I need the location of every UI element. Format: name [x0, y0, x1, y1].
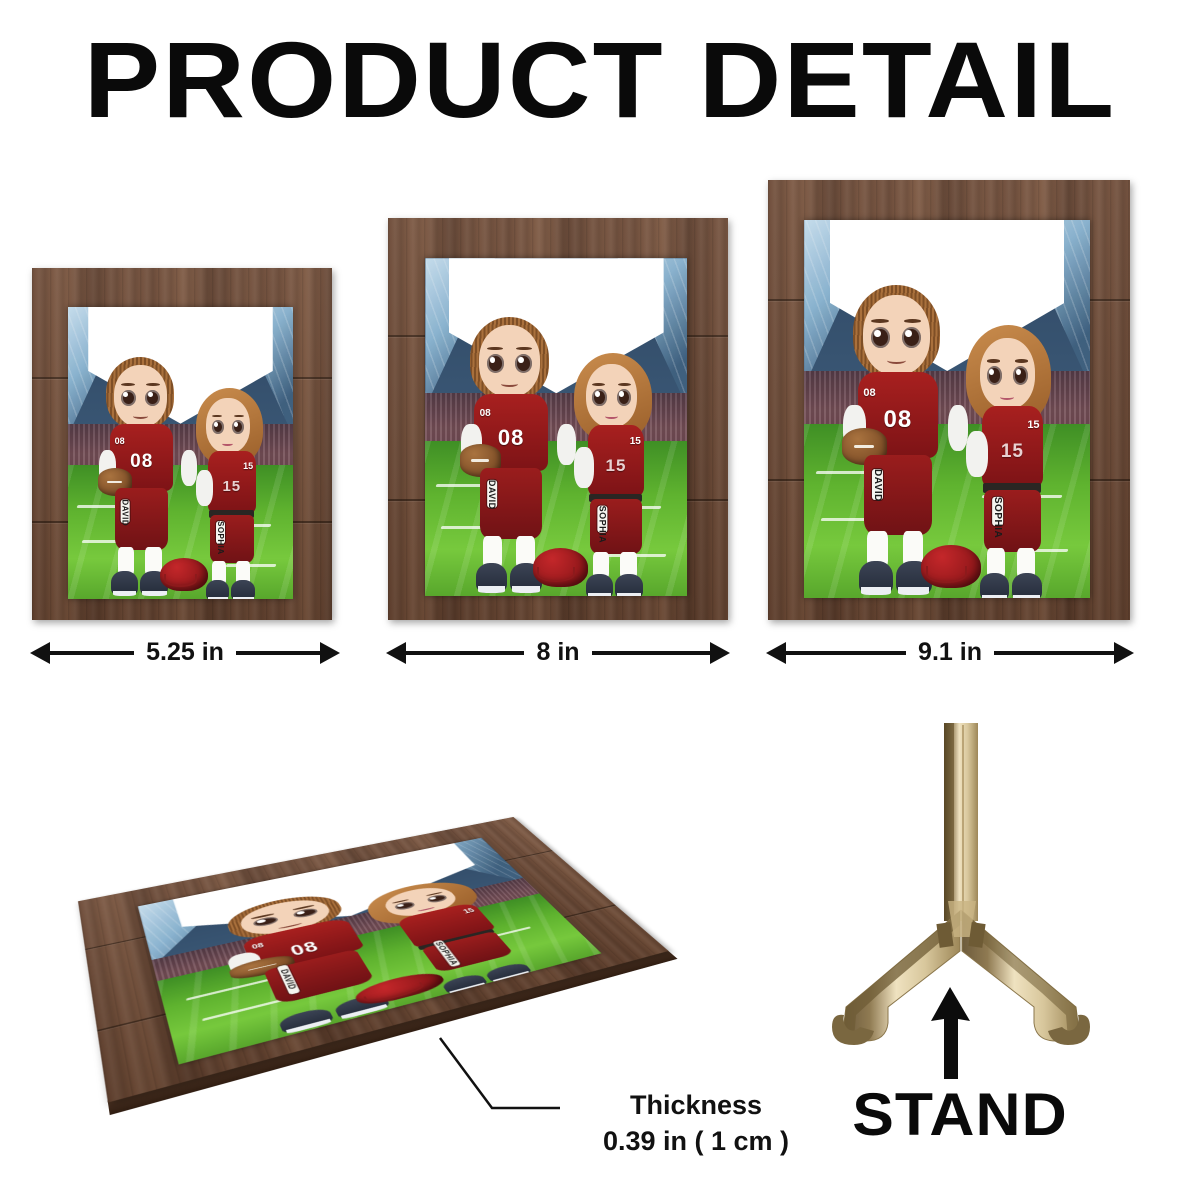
name-tag-sophia: SOPHIA [216, 521, 225, 544]
name-tag-david: DAVID [121, 499, 130, 523]
arrow-right-icon [1114, 642, 1134, 664]
product-frame-large: 08 08 DAVID [768, 180, 1130, 620]
arrow-left-icon [386, 642, 406, 664]
stand-label: STAND [783, 1080, 1137, 1149]
dimension-large: 9.1 in [766, 638, 1134, 667]
character-group-medium: 08 08 DAVID [425, 299, 687, 596]
head-sophia [206, 398, 249, 453]
arrow-right-icon [710, 642, 730, 664]
jersey-number-sophia: 15 [208, 478, 257, 495]
page-title: PRODUCT DETAIL [0, 22, 1200, 139]
shoulder-number-sophia: 15 [243, 461, 253, 471]
pants-david: DAVID [115, 488, 168, 550]
shoulder-number-david: 08 [115, 436, 125, 446]
pants-sophia: SOPHIA [210, 515, 254, 563]
dimension-label-large: 9.1 in [906, 638, 994, 667]
dimension-bar [994, 651, 1114, 655]
stand-pointer-arrow-icon [920, 987, 990, 1079]
dimension-medium: 8 in [386, 638, 730, 667]
dimension-label-small: 5.25 in [134, 638, 236, 667]
dimension-label-medium: 8 in [524, 638, 591, 667]
arrow-left-icon [766, 642, 786, 664]
dimension-bar [50, 651, 134, 655]
stand-illustration [810, 715, 1110, 1055]
dimension-bar [406, 651, 524, 655]
character-group-small: 08 08 DAVID [68, 342, 293, 599]
artwork-window-medium: 08 08 DAVID [425, 258, 687, 596]
dimension-bar [786, 651, 906, 655]
product-frame-small: 08 08 DAVID [32, 268, 332, 620]
jersey-sophia: 15 15 [208, 451, 257, 513]
head-david [114, 365, 167, 427]
helmet-prop [160, 558, 207, 591]
dimension-bar [592, 651, 710, 655]
arrow-left-icon [30, 642, 50, 664]
arrow-right-icon [320, 642, 340, 664]
character-group-large: 08 08 DAVID [804, 265, 1090, 598]
dimension-small: 5.25 in [30, 638, 340, 667]
product-frame-medium: 08 08 DAVID [388, 218, 728, 620]
dimension-bar [236, 651, 320, 655]
artwork-window-small: 08 08 DAVID [68, 307, 293, 599]
artwork-window-large: 08 08 DAVID [804, 220, 1090, 598]
